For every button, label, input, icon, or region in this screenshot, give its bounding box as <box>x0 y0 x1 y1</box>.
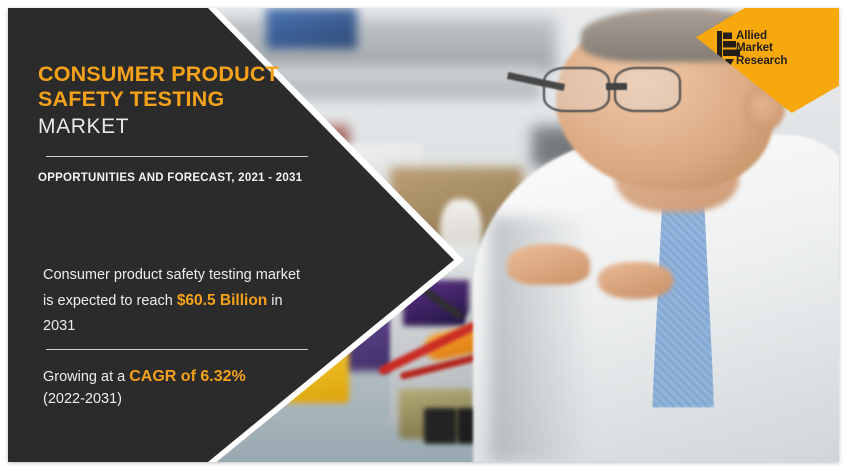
report-subtitle: OPPORTUNITIES AND FORECAST, 2021 - 2031 <box>38 170 310 187</box>
title-line-1: CONSUMER PRODUCT <box>38 62 279 86</box>
brand-line-3: Research <box>736 55 828 67</box>
info-content: CONSUMER PRODUCT SAFETY TESTING MARKET O… <box>38 8 316 462</box>
brand-line-2: Market <box>736 42 828 54</box>
title-line-2: SAFETY TESTING <box>38 87 224 111</box>
brand-logo-text: Allied Market Research <box>736 30 828 67</box>
market-report-banner: consumer-product-safety-testing-photo CO… <box>8 8 839 462</box>
cagr-period: (2022-2031) <box>43 391 122 407</box>
stat-value: $60.5 Billion <box>177 292 267 309</box>
cagr-prefix: Growing at a <box>43 369 129 385</box>
divider-top <box>46 156 308 157</box>
market-value-statement: Consumer product safety testing market i… <box>43 263 311 339</box>
divider-bottom <box>46 349 308 350</box>
cagr-statement: Growing at a CAGR of 6.32% (2022-2031) <box>43 366 311 410</box>
page-title: CONSUMER PRODUCT SAFETY TESTING MARKET <box>38 62 328 139</box>
cagr-value: CAGR of 6.32% <box>129 368 245 385</box>
title-line-3: MARKET <box>38 112 328 139</box>
